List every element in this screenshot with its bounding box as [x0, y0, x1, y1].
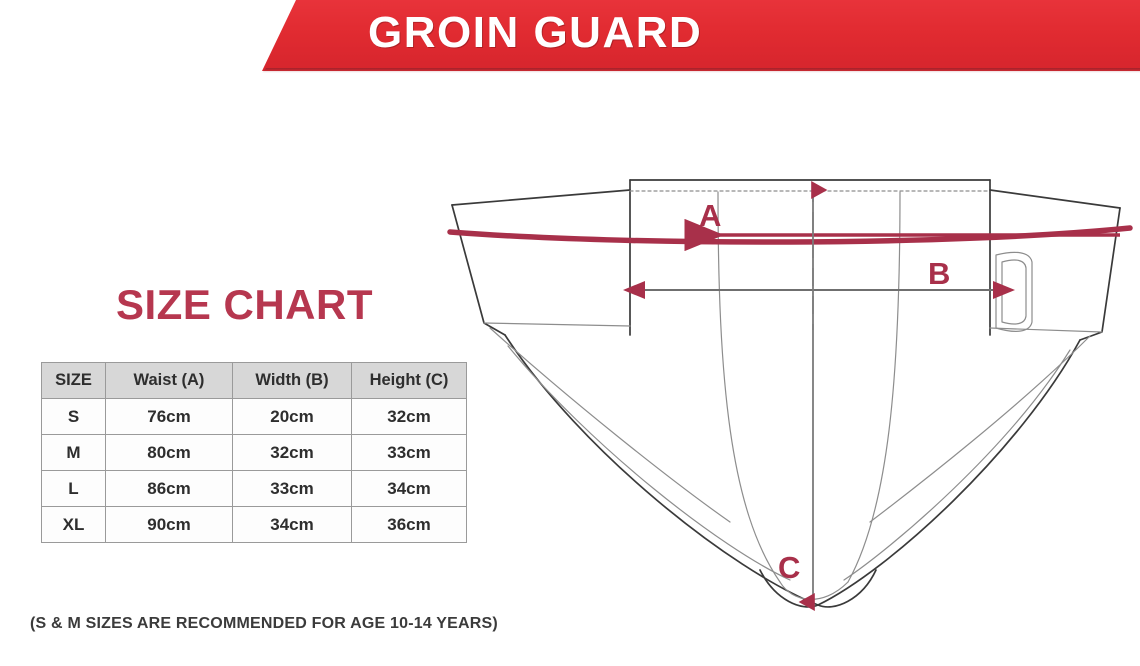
cell-size: M	[42, 435, 106, 471]
cell-width: 32cm	[233, 435, 352, 471]
measurement-label-c: C	[778, 552, 800, 583]
cell-size: S	[42, 399, 106, 435]
column-header-size: SIZE	[42, 363, 106, 399]
cell-waist: 80cm	[106, 435, 233, 471]
header-banner-shadow	[262, 68, 1140, 73]
cell-size: XL	[42, 507, 106, 543]
size-chart-table: SIZE Waist (A) Width (B) Height (C) S 76…	[41, 362, 467, 543]
page-title: GROIN GUARD	[368, 8, 702, 58]
guard-inner-seams	[484, 191, 1102, 599]
table-row: S 76cm 20cm 32cm	[42, 399, 467, 435]
table-row: L 86cm 33cm 34cm	[42, 471, 467, 507]
cell-waist: 86cm	[106, 471, 233, 507]
measurement-label-a: A	[699, 200, 721, 231]
cell-width: 33cm	[233, 471, 352, 507]
age-recommendation-note: (S & M SIZES ARE RECOMMENDED FOR AGE 10-…	[30, 615, 498, 633]
table-row: XL 90cm 34cm 36cm	[42, 507, 467, 543]
groin-guard-diagram: A B C	[430, 150, 1140, 640]
measurement-line-a	[450, 228, 1130, 242]
column-header-waist: Waist (A)	[106, 363, 233, 399]
cell-waist: 76cm	[106, 399, 233, 435]
cell-width: 34cm	[233, 507, 352, 543]
table-row: M 80cm 32cm 33cm	[42, 435, 467, 471]
measurement-label-b: B	[928, 258, 950, 289]
cell-waist: 90cm	[106, 507, 233, 543]
column-header-width: Width (B)	[233, 363, 352, 399]
cell-width: 20cm	[233, 399, 352, 435]
table-header-row: SIZE Waist (A) Width (B) Height (C)	[42, 363, 467, 399]
size-chart-page: GROIN GUARD SIZE CHART SIZE Waist (A) Wi…	[0, 0, 1140, 666]
cell-size: L	[42, 471, 106, 507]
size-chart-heading: SIZE CHART	[116, 281, 373, 329]
